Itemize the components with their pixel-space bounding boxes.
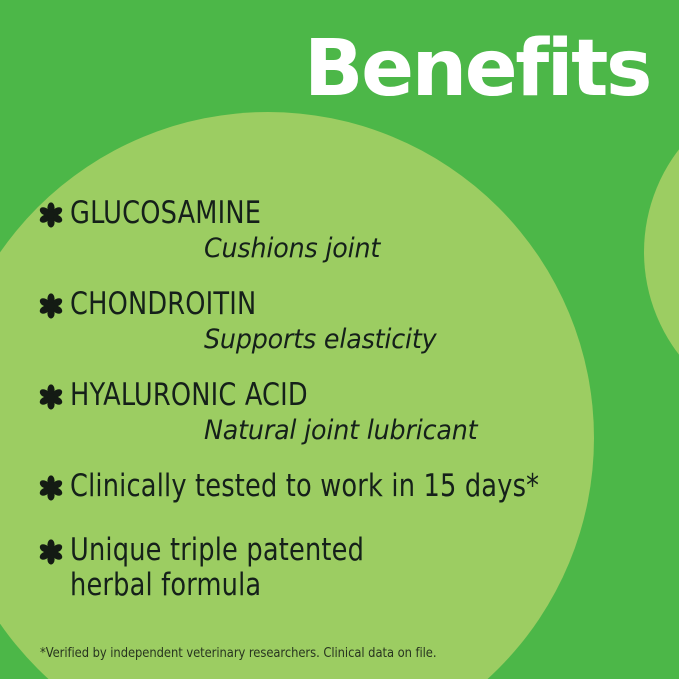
list-item: GLUCOSAMINE Cushions joint <box>38 196 638 265</box>
page-title: Benefits <box>0 26 650 112</box>
benefit-title: GLUCOSAMINE <box>70 196 261 230</box>
benefit-headline-row: HYALURONIC ACID <box>38 378 638 412</box>
benefit-headline-row: Unique triple patented <box>38 533 638 567</box>
benefit-headline-row: GLUCOSAMINE <box>38 196 638 230</box>
benefits-list: GLUCOSAMINE Cushions joint <box>38 196 638 625</box>
benefit-subtitle: Cushions joint <box>204 233 612 265</box>
benefit-subtitle: Supports elasticity <box>204 324 612 356</box>
benefit-title: Clinically tested to work in 15 days* <box>70 469 539 503</box>
list-item: HYALURONIC ACID Natural joint lubricant <box>38 378 638 447</box>
footnote-disclaimer: *Verified by independent veterinary rese… <box>40 645 436 661</box>
benefits-poster: Benefits <box>0 0 679 679</box>
flower-bullet-icon <box>38 469 64 503</box>
flower-bullet-icon <box>38 533 64 567</box>
list-item: Unique triple patented herbal formula <box>38 533 638 603</box>
benefit-title: HYALURONIC ACID <box>70 378 308 412</box>
benefit-title-continuation: herbal formula <box>70 567 593 603</box>
content-layer: Benefits <box>0 0 679 679</box>
flower-bullet-icon <box>38 378 64 412</box>
benefit-subtitle: Natural joint lubricant <box>204 415 612 447</box>
list-item: Clinically tested to work in 15 days* <box>38 469 638 503</box>
benefit-headline-row: Clinically tested to work in 15 days* <box>38 469 638 503</box>
list-item: CHONDROITIN Supports elasticity <box>38 287 638 356</box>
benefit-title: Unique triple patented <box>70 533 364 567</box>
benefit-headline-row: CHONDROITIN <box>38 287 638 321</box>
flower-bullet-icon <box>38 196 64 230</box>
flower-bullet-icon <box>38 287 64 321</box>
benefit-title: CHONDROITIN <box>70 287 256 321</box>
